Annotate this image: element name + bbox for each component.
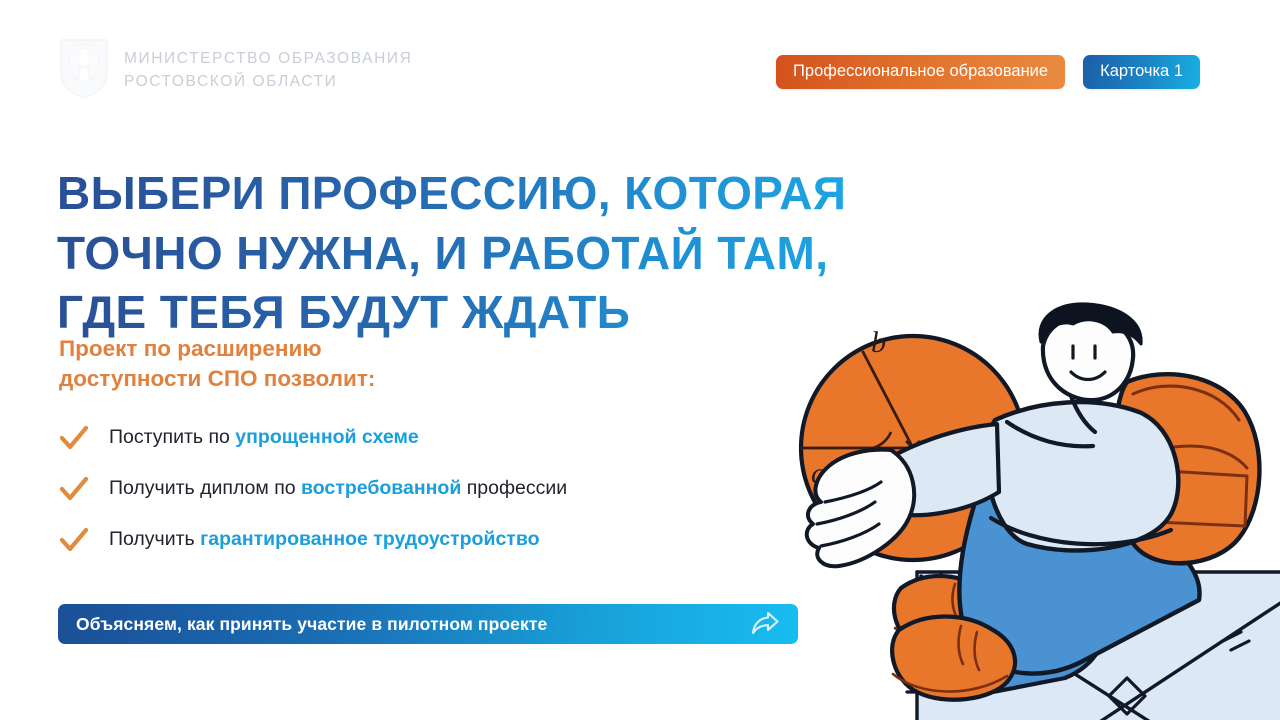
- ministry-line-1: МИНИСТЕРСТВО ОБРАЗОВАНИЯ: [124, 49, 412, 69]
- subheading: Проект по расширению доступности СПО поз…: [59, 334, 375, 394]
- brand-block: МИНИСТЕРСТВО ОБРАЗОВАНИЯ РОСТОВСКОЙ ОБЛА…: [58, 38, 412, 100]
- benefits-list: Поступить по упрощенной схеме Получить д…: [59, 412, 819, 565]
- list-item-text: Поступить по упрощенной схеме: [109, 426, 419, 449]
- cta-banner[interactable]: Объясняем, как принять участие в пилотно…: [58, 604, 798, 644]
- list-item: Поступить по упрощенной схеме: [59, 412, 819, 463]
- headline-line-2: ТОЧНО НУЖНА, И РАБОТАЙ ТАМ,: [57, 224, 997, 284]
- check-icon: [59, 526, 89, 554]
- list-item-highlight: гарантированное трудоустройство: [200, 528, 539, 550]
- subheading-line-1: Проект по расширению: [59, 334, 375, 364]
- subheading-line-2: доступности СПО позволит:: [59, 364, 375, 394]
- list-item-suffix: профессии: [461, 477, 567, 499]
- list-item-prefix: Поступить по: [109, 426, 235, 448]
- list-item-prefix: Получить: [109, 528, 200, 550]
- list-item: Получить диплом по востребованной профес…: [59, 463, 819, 514]
- slide-root: МИНИСТЕРСТВО ОБРАЗОВАНИЯ РОСТОВСКОЙ ОБЛА…: [0, 0, 1280, 720]
- badge-card-number[interactable]: Карточка 1: [1083, 55, 1200, 89]
- headline-line-1: ВЫБЕРИ ПРОФЕССИЮ, КОТОРАЯ: [57, 164, 997, 224]
- badge-category[interactable]: Профессиональное образование: [776, 55, 1065, 89]
- ministry-line-2: РОСТОВСКОЙ ОБЛАСТИ: [124, 72, 412, 92]
- badge-group: Профессиональное образование Карточка 1: [776, 55, 1200, 89]
- check-icon: [59, 424, 89, 452]
- list-item-highlight: упрощенной схеме: [235, 426, 418, 448]
- share-arrow-icon[interactable]: [750, 611, 780, 637]
- cta-label: Объясняем, как принять участие в пилотно…: [76, 614, 547, 635]
- student-illustration: .ink { stroke:#111927; stroke-width:4.2;…: [795, 300, 1280, 720]
- ministry-name: МИНИСТЕРСТВО ОБРАЗОВАНИЯ РОСТОВСКОЙ ОБЛА…: [124, 47, 412, 92]
- header: МИНИСТЕРСТВО ОБРАЗОВАНИЯ РОСТОВСКОЙ ОБЛА…: [0, 38, 1280, 108]
- coat-of-arms-icon: [58, 38, 110, 100]
- check-icon: [59, 475, 89, 503]
- circle-label-b: b: [871, 326, 886, 359]
- list-item-text: Получить гарантированное трудоустройство: [109, 528, 540, 551]
- list-item-prefix: Получить диплом по: [109, 477, 301, 499]
- list-item-text: Получить диплом по востребованной профес…: [109, 477, 567, 500]
- list-item: Получить гарантированное трудоустройство: [59, 514, 819, 565]
- list-item-highlight: востребованной: [301, 477, 461, 499]
